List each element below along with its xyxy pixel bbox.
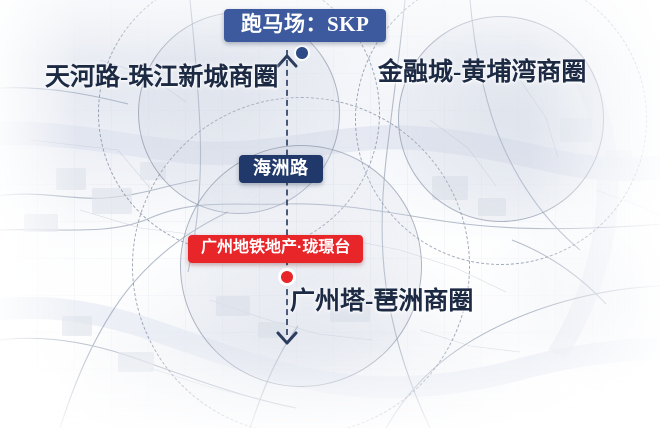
district-label-jinrong: 金融城-黄埔湾商圈 bbox=[378, 52, 586, 88]
chevron-down-icon bbox=[274, 324, 300, 350]
corridor-node-dot bbox=[296, 47, 308, 59]
project-badge[interactable]: 广州地铁地产·珑璟台 bbox=[188, 235, 363, 263]
road-badge-haizhou[interactable]: 海洲路 bbox=[239, 155, 323, 183]
district-label-pazhou: 广州塔-琶洲商圈 bbox=[290, 281, 473, 317]
corridor-axis-line bbox=[286, 50, 288, 335]
district-label-tianhe: 天河路-珠江新城商圈 bbox=[45, 57, 278, 93]
location-map-graphic: 跑马场：SKP 海洲路 广州地铁地产·珑璟台 天河路-珠江新城商圈 金融城-黄埔… bbox=[0, 0, 660, 428]
landmark-badge-skp[interactable]: 跑马场：SKP bbox=[224, 9, 386, 42]
